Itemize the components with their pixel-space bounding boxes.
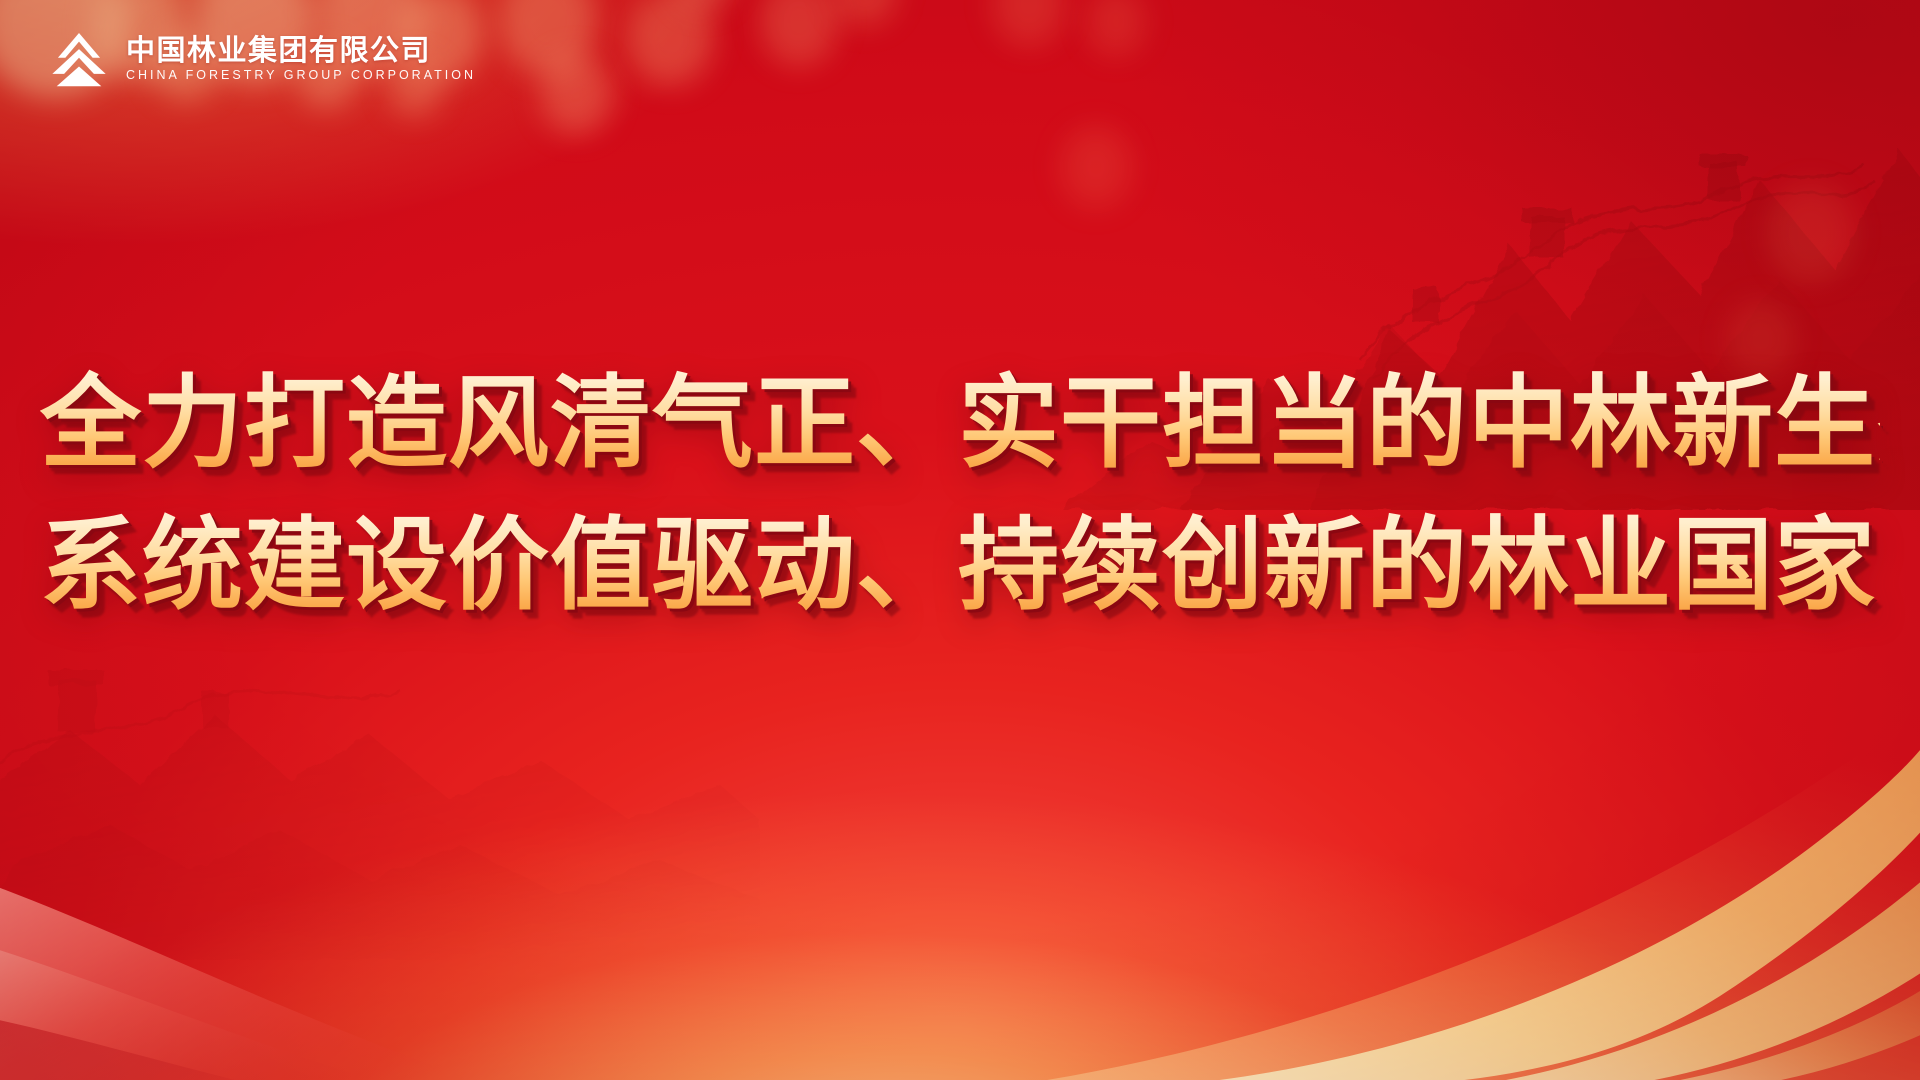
pagoda-chevron-logo-icon bbox=[48, 28, 110, 90]
bokeh-circle bbox=[540, 54, 612, 134]
bokeh-circle bbox=[992, 0, 1066, 46]
bokeh-circle bbox=[760, 0, 838, 66]
promo-banner: 中国林业集团有限公司 CHINA FORESTRY GROUP CORPORAT… bbox=[0, 0, 1920, 1080]
bokeh-circle bbox=[832, 0, 898, 26]
bokeh-circle bbox=[672, 0, 734, 10]
headline-line-2: 系统建设价值驱动、持续创新的林业国家队 bbox=[40, 494, 1880, 636]
bokeh-circle bbox=[500, 0, 596, 76]
silk-ribbon-decor bbox=[0, 720, 790, 1080]
gold-swoosh-decor bbox=[920, 660, 1920, 1080]
headline-block: 全力打造风清气正、实干担当的中林新生态 系统建设价值驱动、持续创新的林业国家队 bbox=[0, 352, 1920, 637]
brand-logo-bar: 中国林业集团有限公司 CHINA FORESTRY GROUP CORPORAT… bbox=[48, 28, 476, 90]
bokeh-circle bbox=[628, 0, 714, 86]
brand-name-en: CHINA FORESTRY GROUP CORPORATION bbox=[126, 69, 476, 82]
brand-text-block: 中国林业集团有限公司 CHINA FORESTRY GROUP CORPORAT… bbox=[126, 37, 476, 82]
brand-name-cn: 中国林业集团有限公司 bbox=[126, 37, 476, 66]
headline-line-1: 全力打造风清气正、实干担当的中林新生态 bbox=[40, 352, 1880, 494]
